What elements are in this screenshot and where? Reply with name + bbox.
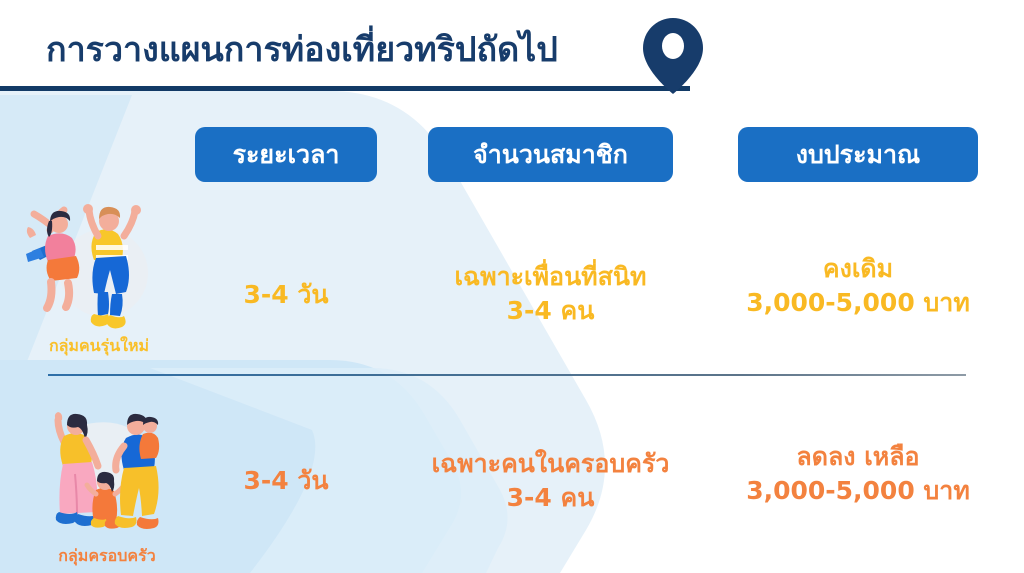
slide-header: การวางแผนการท่องเที่ยวทริปถัดไป: [0, 0, 1024, 90]
header-rule: [0, 86, 690, 91]
cell-line-1: เฉพาะเพื่อนที่สนิท: [408, 260, 693, 294]
persona-young-generation: กลุ่มคนรุ่นใหม่: [4, 188, 194, 359]
persona-family: กลุ่มครอบครัว: [12, 398, 202, 569]
cell-members: เฉพาะเพื่อนที่สนิท 3-4 คน: [408, 260, 693, 328]
persona-label: กลุ่มคนรุ่นใหม่: [4, 334, 194, 359]
cell-line-2: 3,000-5,000 บาท: [718, 286, 998, 320]
cell-line-2: 3-4 คน: [408, 481, 693, 515]
family-walking-illustration: [12, 398, 202, 548]
cell-line-1: คงเดิม: [718, 252, 998, 286]
cell-duration: 3-4 วัน: [195, 278, 377, 312]
cell-line-1: เฉพาะคนในครอบครัว: [408, 447, 693, 481]
location-pin-icon: [641, 16, 705, 96]
column-header-members[interactable]: จำนวนสมาชิก: [428, 127, 673, 182]
cell-line-1: ลดลง เหลือ: [718, 440, 998, 474]
cell-budget: ลดลง เหลือ 3,000-5,000 บาท: [718, 440, 998, 508]
cell-budget: คงเดิม 3,000-5,000 บาท: [718, 252, 998, 320]
cell-line-1: 3-4 วัน: [195, 278, 377, 312]
cell-duration: 3-4 วัน: [195, 464, 377, 498]
cell-line-2: 3,000-5,000 บาท: [718, 474, 998, 508]
two-young-people-jumping-illustration: [4, 188, 194, 338]
column-header-duration[interactable]: ระยะเวลา: [195, 127, 377, 182]
cell-line-2: 3-4 คน: [408, 294, 693, 328]
page-title: การวางแผนการท่องเที่ยวทริปถัดไป: [46, 26, 558, 74]
column-header-budget[interactable]: งบประมาณ: [738, 127, 978, 182]
cell-members: เฉพาะคนในครอบครัว 3-4 คน: [408, 447, 693, 515]
row-divider: [48, 374, 966, 376]
slide-canvas: การวางแผนการท่องเที่ยวทริปถัดไป ระยะเวลา…: [0, 0, 1024, 573]
persona-label: กลุ่มครอบครัว: [12, 544, 202, 569]
cell-line-1: 3-4 วัน: [195, 464, 377, 498]
